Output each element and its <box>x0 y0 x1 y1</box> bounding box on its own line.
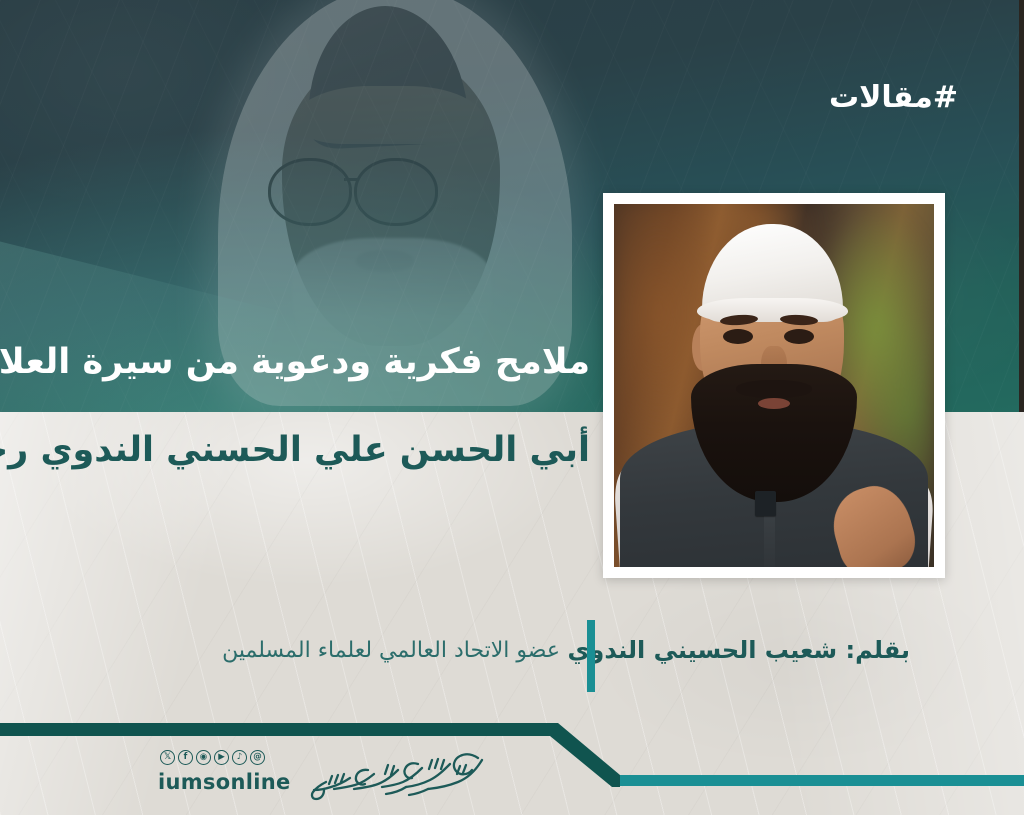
article-title-line-1-wrap: ملامح فكرية ودعوية من سيرة العلامة <box>20 340 590 386</box>
ghost-cap <box>302 2 469 150</box>
teal-glow-facet <box>0 239 280 412</box>
ghost-mouth <box>356 250 414 272</box>
byline-row: بقلم: شعيب الحسيني الندوي عضو الاتحاد ال… <box>120 618 910 696</box>
article-title-line-1: ملامح فكرية ودعوية من سيرة العلامة <box>20 340 590 386</box>
tiktok-icon[interactable]: ♪ <box>232 750 247 765</box>
right-edge-border <box>1019 0 1024 412</box>
threads-icon[interactable]: @ <box>250 750 265 765</box>
ghost-face <box>282 54 500 346</box>
portrait-cap-band <box>697 298 847 322</box>
brand-handle-text[interactable]: iumsonline <box>158 770 291 794</box>
author-portrait-image <box>614 204 934 567</box>
footer-logo[interactable]: 𝕏 f ◉ ▶ ♪ @ iumsonline الاتحاد العالمي ل… <box>158 748 488 810</box>
byline-vertical-divider <box>587 620 595 692</box>
portrait-mustache <box>736 380 813 398</box>
author-photo-frame <box>603 193 945 578</box>
byline-affiliation: عضو الاتحاد العالمي لعلماء المسلمين <box>222 638 560 663</box>
ghost-glasses-bridge <box>344 178 358 181</box>
portrait-lip <box>758 398 790 409</box>
organization-calligraphy-logo: الاتحاد العالمي لعلماء المسلمين <box>310 748 488 804</box>
ghost-glasses-left <box>268 158 352 226</box>
portrait-lapel-mic <box>755 491 776 516</box>
instagram-icon[interactable]: ◉ <box>196 750 211 765</box>
category-hashtag: #مقالات <box>829 80 958 115</box>
x-twitter-icon[interactable]: 𝕏 <box>160 750 175 765</box>
social-icon-row[interactable]: 𝕏 f ◉ ▶ ♪ @ <box>160 750 265 765</box>
ghost-glasses-right <box>354 158 438 226</box>
ghost-cap-band <box>294 86 484 144</box>
facebook-icon[interactable]: f <box>178 750 193 765</box>
article-title-line-2: أبي الحسن علي الحسني الندوي رحمه الله <box>20 428 590 474</box>
byline-author-name: بقلم: شعيب الحسيني الندوي <box>567 636 910 664</box>
article-promo-poster: #مقالات ملامح فكرية ودعوية من سيرة ا <box>0 0 1024 815</box>
youtube-icon[interactable]: ▶ <box>214 750 229 765</box>
article-title-line-2-wrap: أبي الحسن علي الحسني الندوي رحمه الله <box>20 428 590 474</box>
